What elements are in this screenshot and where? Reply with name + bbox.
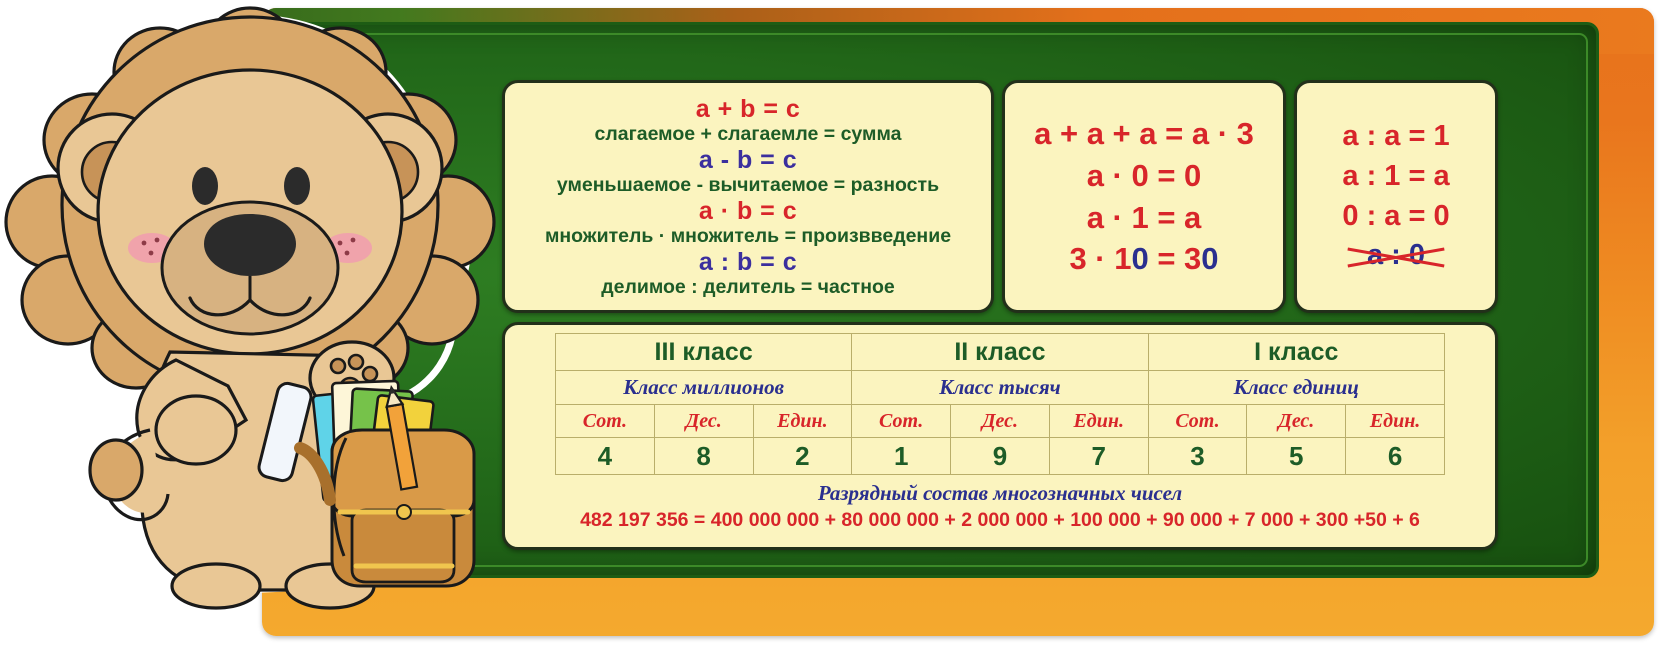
rule-ten-part-a: 3 · 1	[1069, 241, 1131, 276]
digit-cell-8: 6	[1346, 438, 1445, 475]
rule-multiply-by-ten: 3 · 10 = 30	[1069, 239, 1218, 279]
digit-cell-0: 4	[556, 438, 655, 475]
crossed-expression: a : 0	[1353, 237, 1439, 275]
formula-subtraction: a - b = c	[699, 146, 797, 174]
rule-divide-by-one: a : 1 = a	[1342, 158, 1449, 196]
place-header-6: Сот.	[1148, 405, 1247, 438]
place-value-expansion: 482 197 356 = 400 000 000 + 80 000 000 +…	[515, 509, 1485, 532]
table-row-class-ordinals: III класс II класс I класс	[556, 334, 1445, 371]
digit-cell-7: 5	[1247, 438, 1346, 475]
class-ordinal-millions: III класс	[556, 334, 852, 371]
digit-cell-1: 8	[654, 438, 753, 475]
formula-division: a : b = c	[699, 248, 797, 276]
rule-repeated-addition: a + a + a = a · 3	[1034, 114, 1254, 154]
rule-divide-by-zero-forbidden: a : 0	[1353, 237, 1439, 275]
table-row-class-names: Класс миллионов Класс тысяч Класс единиц	[556, 371, 1445, 405]
table-row-place-headers: Сот. Дес. Един. Сот. Дес. Един. Сот. Дес…	[556, 405, 1445, 438]
lion-paw-left	[156, 396, 236, 464]
place-header-0: Сот.	[556, 405, 655, 438]
place-value-table: III класс II класс I класс Класс миллион…	[555, 333, 1445, 475]
division-rules-card: a : a = 1 a : 1 = a 0 : a = 0 a : 0	[1294, 80, 1498, 313]
rule-multiply-by-one: a · 1 = a	[1087, 198, 1202, 238]
rule-zero-divided: 0 : a = 0	[1342, 198, 1449, 236]
place-value-caption: Разрядный состав многозначных чисел	[515, 481, 1485, 506]
multiplication-rules-card: a + a + a = a · 3 a · 0 = 0 a · 1 = a 3 …	[1002, 80, 1286, 313]
class-name-millions: Класс миллионов	[556, 371, 852, 405]
gloss-multiplication: множитель · множитель = произвведение	[545, 225, 951, 248]
lion-face	[98, 70, 402, 354]
digit-cell-3: 1	[852, 438, 951, 475]
place-value-card: III класс II класс I класс Класс миллион…	[502, 322, 1498, 550]
operations-glossary-card: a + b = c слагаемое + слагаемле = сумма …	[502, 80, 994, 313]
lion-mascot: .mane { fill:#d9a86a; stroke:#1a1a1a; st…	[0, 0, 520, 611]
rule-ten-zero-second: 0	[1201, 241, 1218, 276]
place-header-4: Дес.	[951, 405, 1050, 438]
lion-eye-left	[192, 167, 218, 205]
class-ordinal-thousands: II класс	[852, 334, 1148, 371]
backpack-pocket	[352, 510, 454, 582]
rule-multiply-by-zero: a · 0 = 0	[1087, 156, 1202, 196]
gloss-addition: слагаемое + слагаемле = сумма	[595, 123, 902, 146]
place-header-7: Дес.	[1247, 405, 1346, 438]
digit-cell-2: 2	[753, 438, 852, 475]
place-header-1: Дес.	[654, 405, 753, 438]
table-row-digits: 4 8 2 1 9 7 3 5 6	[556, 438, 1445, 475]
place-header-8: Един.	[1346, 405, 1445, 438]
poster-root: a + b = c слагаемое + слагаемле = сумма …	[0, 0, 1680, 651]
digit-cell-5: 7	[1049, 438, 1148, 475]
formula-addition: a + b = c	[696, 95, 801, 123]
place-header-5: Един.	[1049, 405, 1148, 438]
class-name-thousands: Класс тысяч	[852, 371, 1148, 405]
backpack-zipper-pull	[397, 505, 411, 519]
lion-tail-tuft	[90, 440, 142, 500]
digit-cell-6: 3	[1148, 438, 1247, 475]
class-ordinal-units: I класс	[1148, 334, 1444, 371]
lion-eye-right	[284, 167, 310, 205]
place-header-2: Един.	[753, 405, 852, 438]
rule-ten-part-b: = 3	[1149, 241, 1202, 276]
gloss-division: делимое : делитель = частное	[601, 276, 895, 299]
formula-multiplication: a · b = c	[699, 197, 797, 225]
rule-ten-zero-first: 0	[1131, 241, 1148, 276]
gloss-subtraction: уменьшаемое - вычитаемое = разность	[557, 174, 939, 197]
place-header-3: Сот.	[852, 405, 951, 438]
rule-divide-self: a : a = 1	[1342, 118, 1449, 156]
class-name-units: Класс единиц	[1148, 371, 1444, 405]
digit-cell-4: 9	[951, 438, 1050, 475]
